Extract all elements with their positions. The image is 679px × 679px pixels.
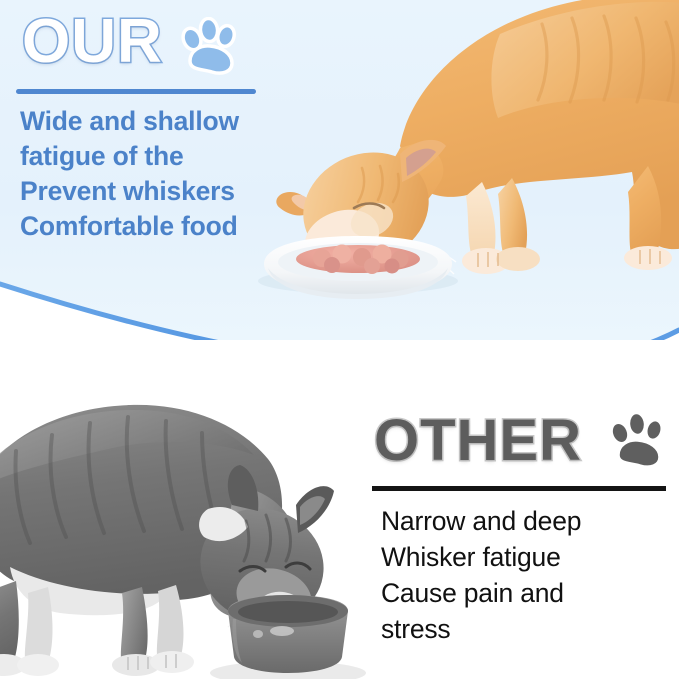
other-drawback-line: Narrow and deep	[381, 503, 671, 539]
other-drawbacks-list: Narrow and deep Whisker fatigue Cause pa…	[381, 503, 671, 647]
other-divider	[372, 486, 666, 491]
product-comparison-infographic: OUR Wide and shallow fatigue of the Prev…	[0, 0, 679, 679]
paw-print-icon	[605, 412, 669, 472]
our-benefit-line: Comfortable food	[20, 209, 310, 244]
gray-cat-photo	[0, 355, 400, 679]
our-divider	[16, 89, 256, 94]
our-benefit-line: Wide and shallow	[20, 104, 310, 139]
other-heading: OTHER	[374, 412, 582, 470]
our-benefit-line: fatigue of the	[20, 139, 310, 174]
other-drawback-line: Whisker fatigue	[381, 539, 671, 575]
our-benefits-list: Wide and shallow fatigue of the Prevent …	[20, 104, 310, 244]
other-drawback-line: Cause pain and	[381, 575, 671, 611]
our-benefit-line: Prevent whiskers	[20, 174, 310, 209]
our-product-panel: OUR Wide and shallow fatigue of the Prev…	[0, 0, 679, 390]
our-text-block: OUR Wide and shallow fatigue of the Prev…	[0, 0, 679, 390]
other-drawback-line: stress	[381, 611, 671, 647]
paw-print-icon	[176, 17, 242, 79]
our-heading: OUR	[22, 11, 163, 73]
